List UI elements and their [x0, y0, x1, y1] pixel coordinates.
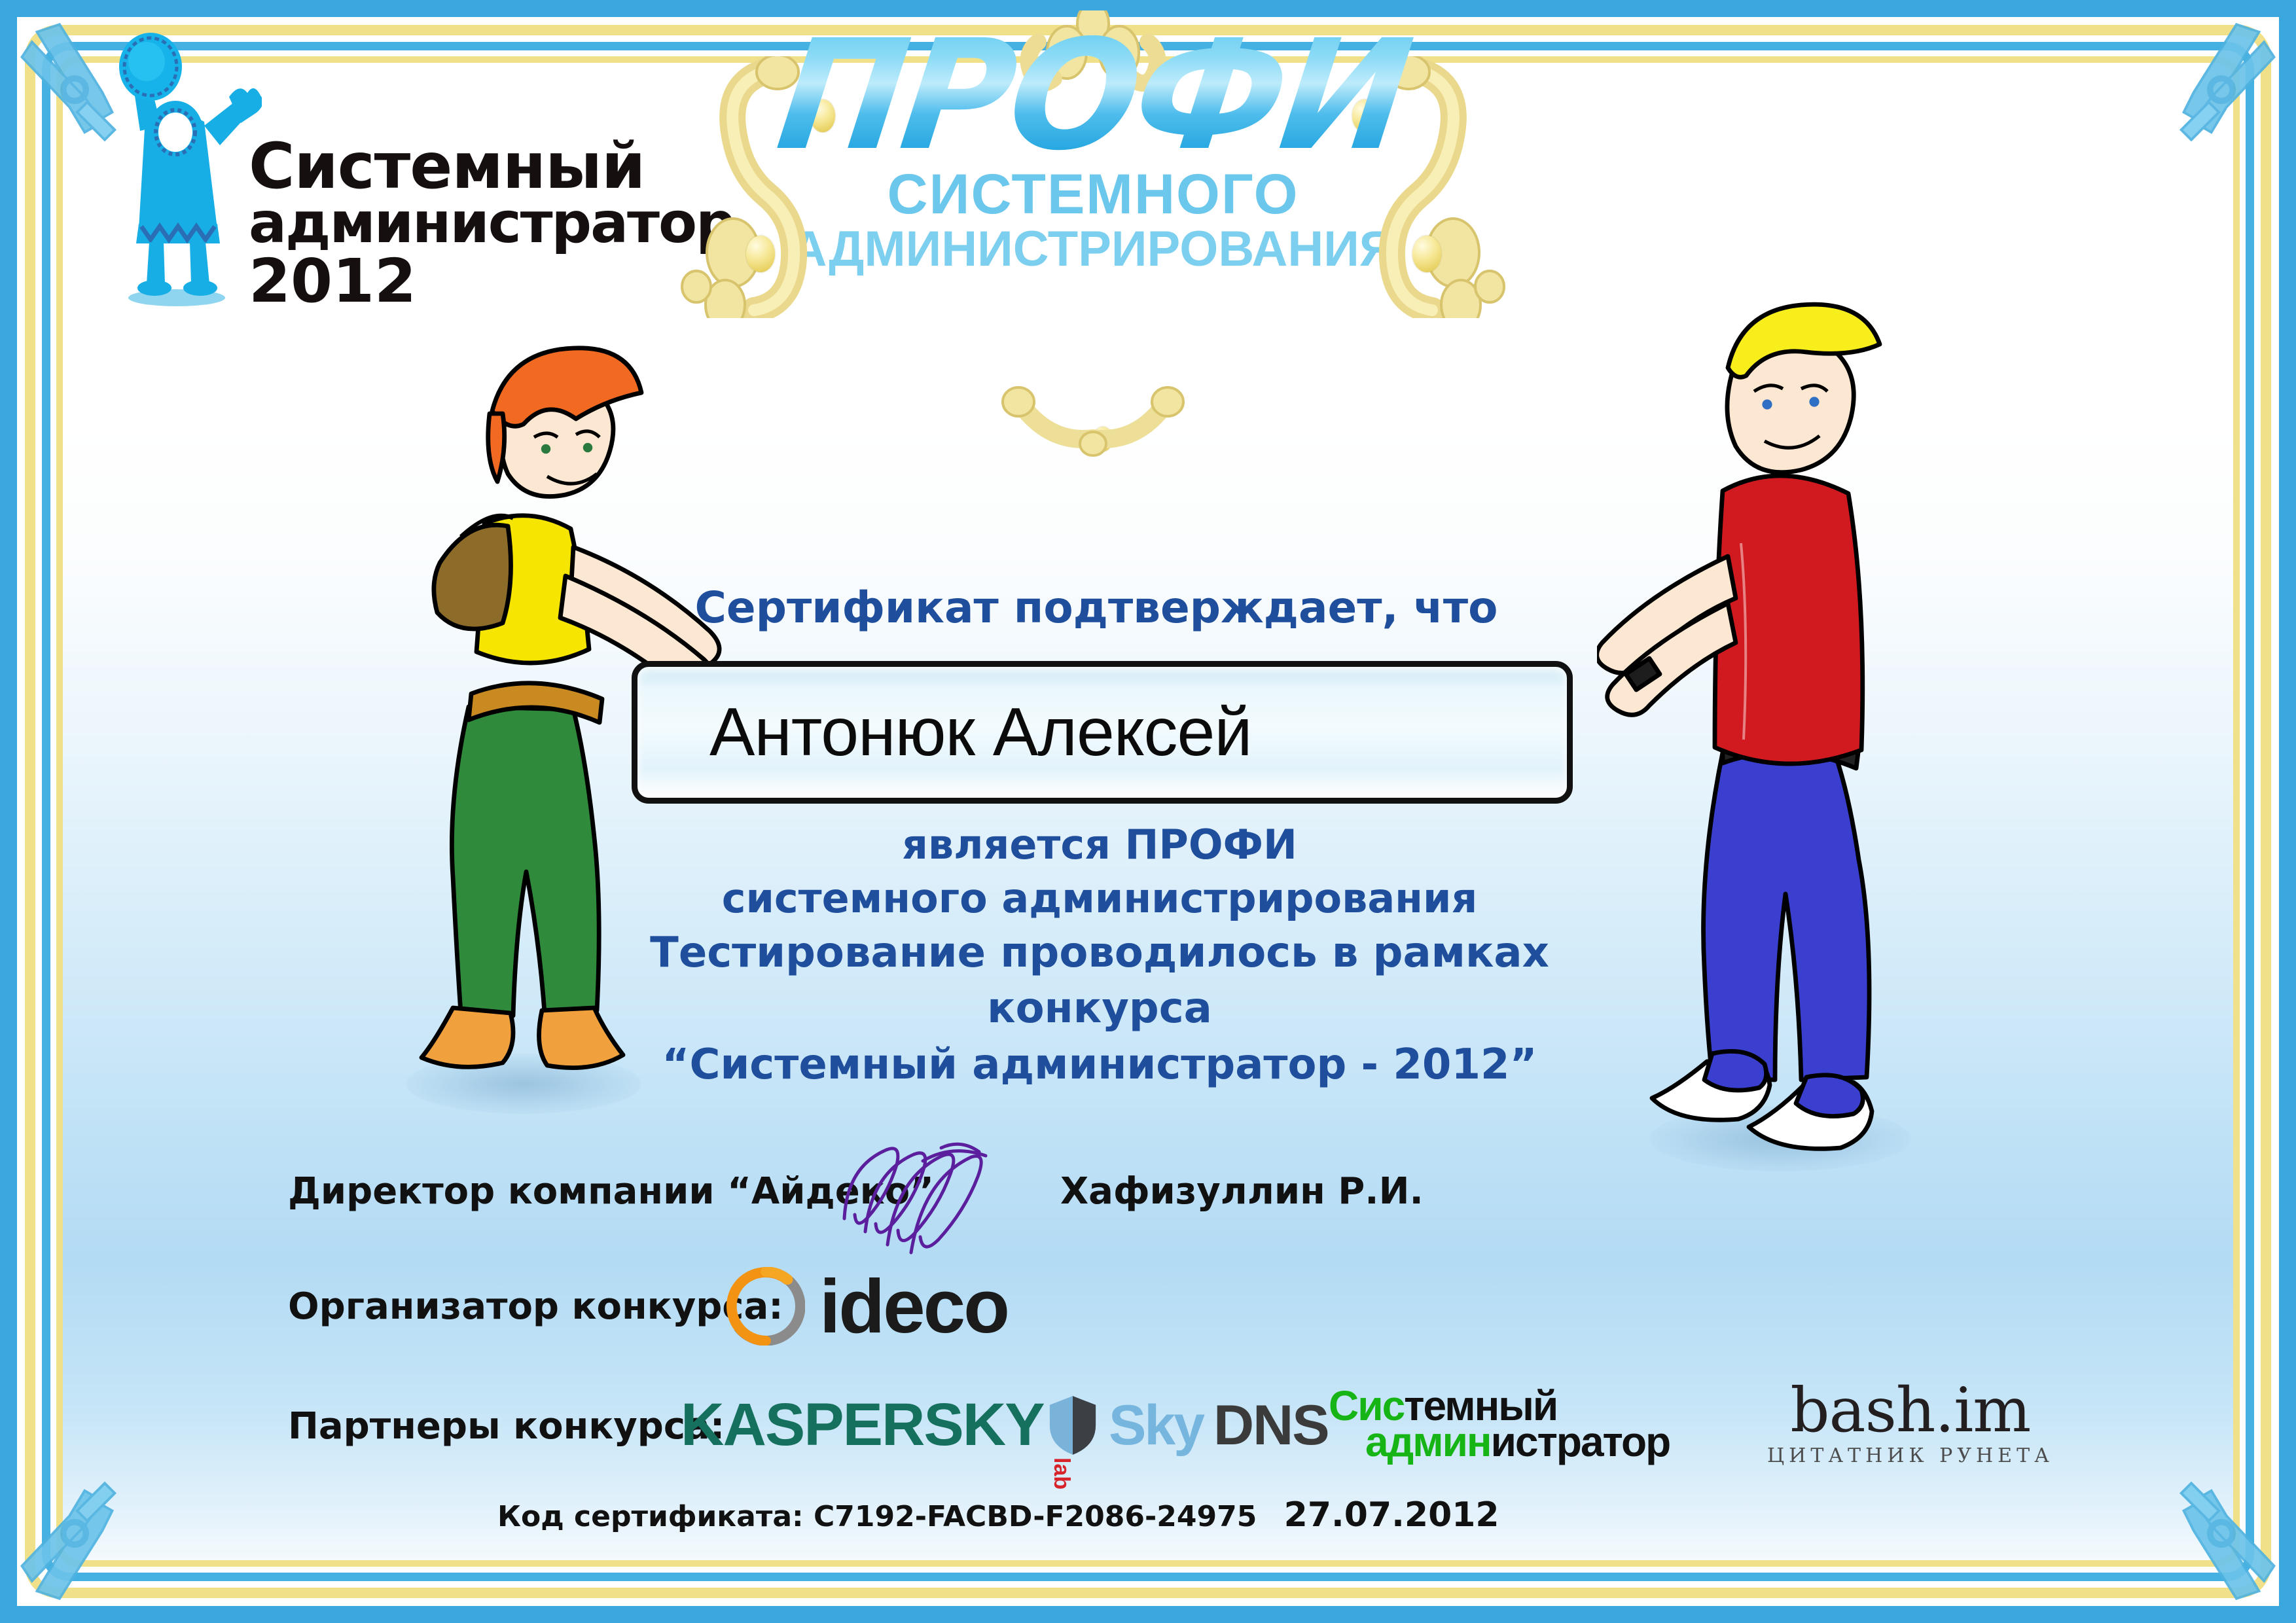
bashim-logo: bash.im ЦИТАТНИК РУНЕТА — [1767, 1380, 2054, 1467]
body-line-3: Тестирование проводилось в рамках конкур… — [569, 925, 1630, 1038]
signature-row: Директор компании “Айдеко” Хафизуллин Р.… — [288, 1152, 1466, 1250]
pliers-icon-bottom-left — [14, 1458, 165, 1609]
bashim-tagline: ЦИТАТНИК РУНЕТА — [1767, 1444, 2054, 1467]
certificate-code-label: Код сертификата: — [497, 1500, 804, 1533]
contest-logo-line3: 2012 — [249, 251, 700, 312]
skydns-dns-text: DNS — [1213, 1397, 1329, 1454]
certificate-code-line: Код сертификата: C7192-FACBD-F2086-24975… — [497, 1495, 1499, 1535]
kaspersky-logo: KASPERSKY lab — [681, 1395, 1083, 1455]
organizer-row: Организатор конкурса: ideco — [288, 1270, 1270, 1368]
partners-row: Партнеры конкурса: KASPERSKY lab Sky DNS… — [288, 1391, 2055, 1489]
confirm-text: Сертификат подтверждает, что — [674, 582, 1518, 633]
male-sysadmin-character — [1597, 294, 1937, 1165]
skydns-sky-text: Sky — [1109, 1397, 1203, 1454]
recipient-name: Антонюк Алексей — [637, 694, 1251, 772]
ideco-swirl-icon — [726, 1267, 805, 1346]
partners-label: Партнеры конкурса: — [288, 1405, 725, 1448]
certificate-page: Системный администратор 2012 — [0, 0, 2296, 1623]
ornament-bottom-swirl — [995, 386, 1191, 458]
certificate-body: является ПРОФИ системного администрирова… — [569, 818, 1630, 1094]
recipient-name-plate: Антонюк Алексей — [632, 661, 1573, 804]
body-line-4: “Системный администратор - 2012” — [569, 1037, 1630, 1094]
ornament-bead-3 — [746, 236, 775, 272]
shield-icon — [1047, 1393, 1098, 1457]
eskimo-mascot-icon — [98, 33, 262, 308]
sysadmin-magazine-line2: администратор — [1329, 1424, 1670, 1460]
body-line-2: системного администрирования — [569, 872, 1630, 925]
certificate-date: 27.07.2012 — [1284, 1495, 1499, 1535]
pliers-icon-bottom-right — [2131, 1458, 2282, 1609]
ideco-wordmark: ideco — [819, 1268, 1008, 1344]
bashim-wordmark: bash.im — [1767, 1380, 2054, 1442]
sysadmin-magazine-logo: Системный администратор — [1329, 1388, 1670, 1460]
contest-logo-line2: администратор — [249, 195, 700, 251]
contest-logo-wordmark: Системный администратор 2012 — [249, 137, 700, 312]
kaspersky-wordmark: KASPERSKY — [681, 1395, 1044, 1455]
sysadmin-magazine-line2-black: истратор — [1491, 1418, 1670, 1465]
signer-name: Хафизуллин Р.И. — [1060, 1170, 1424, 1213]
profi-logo: ПРОФИ СИСТЕМНОГО АДМИНИСТРИРОВАНИЯ — [674, 20, 1512, 517]
skydns-logo: Sky DNS — [1047, 1393, 1329, 1457]
certificate-code-value: C7192-FACBD-F2086-24975 — [814, 1500, 1257, 1533]
kaspersky-lab-suffix: lab — [1050, 1457, 1073, 1489]
ornament-bead-4 — [1412, 236, 1441, 272]
contest-logo-line1: Системный — [249, 137, 700, 195]
profi-wordmark: ПРОФИ — [665, 20, 1521, 171]
pliers-icon-top-right — [2131, 14, 2282, 165]
ideco-logo: ideco — [726, 1267, 1008, 1346]
sysadmin-magazine-line2-green: админ — [1365, 1418, 1491, 1465]
signature-scribble-icon — [825, 1133, 1014, 1258]
organizer-label: Организатор конкурса: — [288, 1285, 783, 1328]
body-line-1: является ПРОФИ — [569, 818, 1630, 872]
contest-logo: Системный администратор 2012 — [98, 26, 700, 366]
